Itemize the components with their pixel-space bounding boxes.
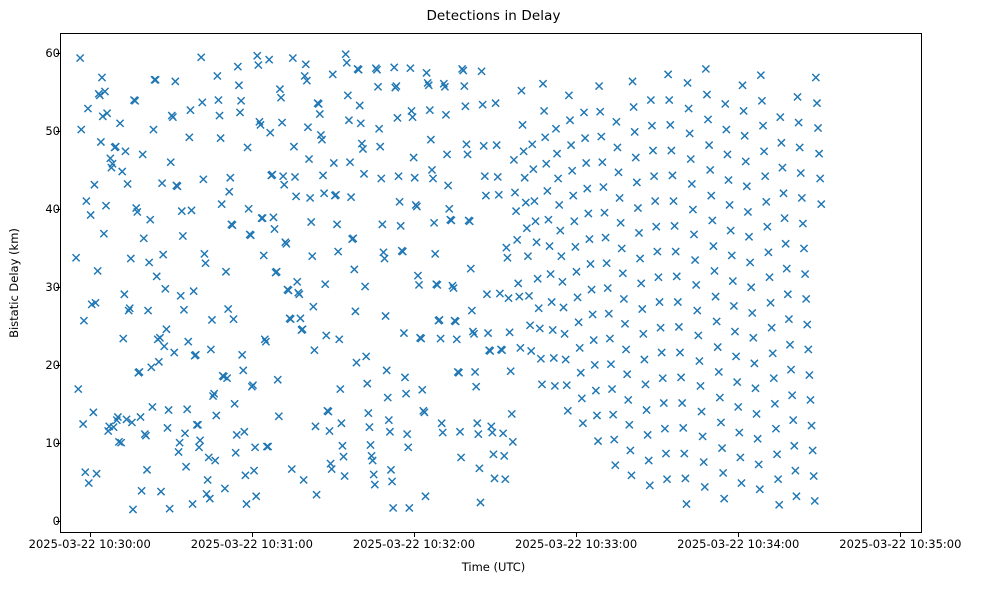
x-tick-mark	[738, 533, 739, 537]
y-tick-mark	[56, 521, 60, 522]
x-axis-label: Time (UTC)	[0, 560, 987, 574]
x-tick-mark	[90, 533, 91, 537]
plot-area	[60, 33, 922, 533]
y-axis-label-wrap: Bistatic Delay (km)	[16, 0, 17, 590]
y-tick-mark	[56, 53, 60, 54]
y-tick-mark	[56, 365, 60, 366]
scatter-points-layer	[61, 34, 921, 532]
chart-title: Detections in Delay	[0, 8, 987, 24]
y-tick-mark	[56, 287, 60, 288]
y-tick-mark	[56, 131, 60, 132]
x-tick-mark	[900, 533, 901, 537]
x-tick-label: 2025-03-22 10:30:00	[29, 537, 151, 551]
y-tick-mark	[56, 209, 60, 210]
x-tick-label: 2025-03-22 10:32:00	[353, 537, 475, 551]
x-tick-label: 2025-03-22 10:31:00	[191, 537, 313, 551]
x-tick-label: 2025-03-22 10:33:00	[515, 537, 637, 551]
figure: Detections in Delay Bistatic Delay (km) …	[0, 0, 987, 590]
x-tick-mark	[414, 533, 415, 537]
x-tick-label: 2025-03-22 10:35:00	[839, 537, 961, 551]
x-tick-mark	[252, 533, 253, 537]
x-tick-label: 2025-03-22 10:34:00	[677, 537, 799, 551]
x-tick-mark	[576, 533, 577, 537]
y-axis-label: Bistatic Delay (km)	[7, 228, 21, 338]
y-tick-mark	[56, 443, 60, 444]
